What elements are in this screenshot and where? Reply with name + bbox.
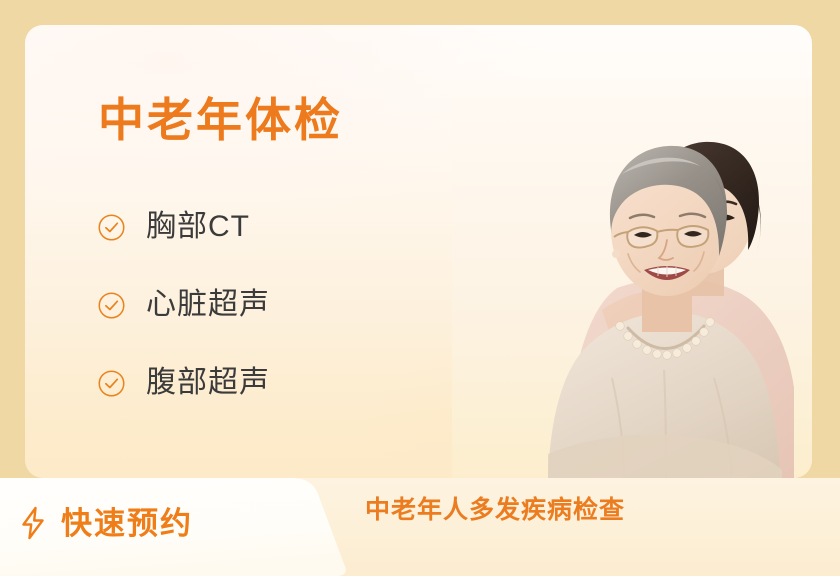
bottom-subtitle: 中老年人多发疾病检查 [365,498,625,523]
feature-label: 心脏超声 [146,290,270,320]
page-title: 中老年体检 [98,97,343,143]
quick-booking-button[interactable]: 快速预约 [18,500,193,546]
two-women-portrait-photo [452,78,812,478]
list-item: 胸部CT [97,188,427,266]
lightning-bolt-icon [18,506,48,540]
list-item: 心脏超声 [97,266,427,344]
bottom-bar: 快速预约 中老年人多发疾病检查 [0,478,840,576]
promo-banner: 中老年体检 胸部CT 心脏超声 [0,0,840,576]
circle-check-icon [97,369,126,398]
feature-label: 胸部CT [146,212,250,242]
feature-list: 胸部CT 心脏超声 腹部超声 [97,188,427,422]
feature-label: 腹部超声 [146,368,270,398]
promo-card: 中老年体检 胸部CT 心脏超声 [25,25,812,478]
quick-booking-label: 快速预约 [61,508,193,539]
list-item: 腹部超声 [97,344,427,422]
circle-check-icon [97,291,126,320]
circle-check-icon [97,213,126,242]
